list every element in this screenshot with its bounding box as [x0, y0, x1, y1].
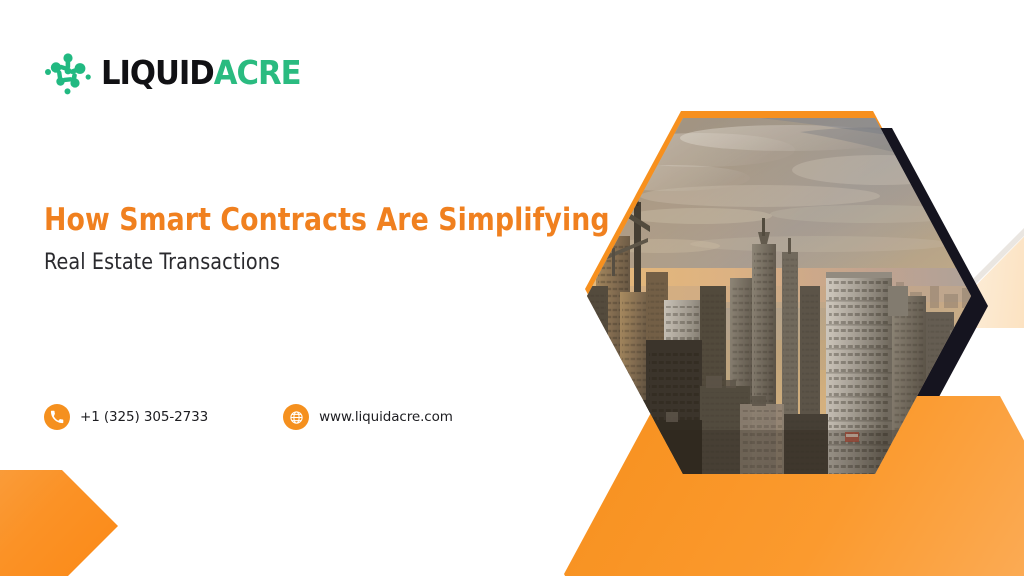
globe-icon [283, 404, 309, 430]
website-url: www.liquidacre.com [319, 409, 453, 425]
phone-number: +1 (325) 305-2733 [80, 409, 208, 425]
contact-phone[interactable]: +1 (325) 305-2733 [44, 404, 208, 430]
logo-wordmark: LIQUIDACRE [101, 56, 301, 89]
title-block: How Smart Contracts Are Simplifying Real… [44, 204, 604, 277]
phone-icon [44, 404, 70, 430]
logo-word-secondary: ACRE [214, 53, 301, 92]
presentation-slide: LIQUIDACRE How Smart Contracts Are Simpl… [0, 0, 1024, 576]
page-subtitle: Real Estate Transactions [44, 250, 587, 276]
network-nodes-icon [44, 48, 92, 96]
page-title: How Smart Contracts Are Simplifying [44, 204, 582, 237]
contact-website[interactable]: www.liquidacre.com [283, 404, 453, 430]
contact-info: +1 (325) 305-2733 www.liquidacre.com [44, 404, 453, 430]
logo-word-primary: LIQUID [101, 53, 214, 92]
brand-logo[interactable]: LIQUIDACRE [44, 48, 316, 96]
